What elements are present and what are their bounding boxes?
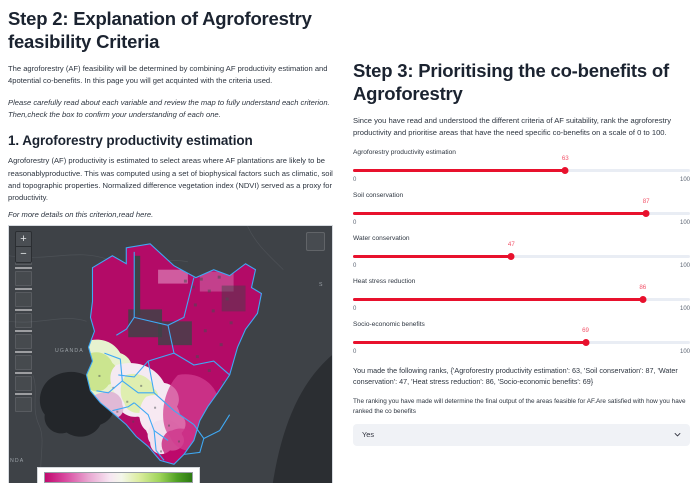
slider-fill — [353, 169, 565, 172]
slider-max-label: 100 — [680, 177, 690, 183]
slider-thumb[interactable] — [639, 296, 646, 303]
step3-intro-paragraph: Since you have read and understood the d… — [353, 115, 690, 140]
map-control-slot-4[interactable] — [15, 313, 32, 328]
chevron-down-icon — [674, 431, 681, 438]
left-column: Step 2: Explanation of Agroforestry feas… — [0, 0, 345, 483]
slider-fill — [353, 212, 646, 215]
map-control-divider-5 — [15, 351, 32, 353]
ocean-region — [269, 355, 332, 483]
slider-thumb[interactable] — [562, 167, 569, 174]
slider-heat-stress-reduction[interactable]: Heat stress reduction 86 0 100 — [353, 278, 690, 312]
slider-track[interactable]: 69 — [353, 338, 690, 347]
slider-fill — [353, 255, 511, 258]
zoom-out-button[interactable]: − — [16, 247, 31, 262]
slider-range-labels: 0 100 — [353, 263, 690, 269]
slider-soil-conservation[interactable]: Soil conservation 87 0 100 — [353, 192, 690, 226]
slider-value: 63 — [562, 155, 569, 162]
slider-track[interactable]: 47 — [353, 252, 690, 261]
slider-value: 86 — [639, 284, 646, 291]
slider-min-label: 0 — [353, 177, 356, 183]
slider-fill — [353, 298, 643, 301]
map-control-divider-7 — [15, 393, 32, 395]
map-control-divider-1 — [15, 267, 32, 269]
layers-icon[interactable] — [306, 232, 325, 251]
step2-intro-paragraph: The agroforestry (AF) feasibility will b… — [8, 63, 333, 88]
slider-min-label: 0 — [353, 306, 356, 312]
map-basemap[interactable] — [9, 226, 332, 483]
af-feasibility-raster — [68, 236, 277, 474]
slider-water-conservation[interactable]: Water conservation 47 0 100 — [353, 235, 690, 269]
slider-fill — [353, 341, 586, 344]
confirm-select-value: Yes — [362, 430, 374, 439]
map-control-slot-5[interactable] — [15, 334, 32, 349]
slider-min-label: 0 — [353, 263, 356, 269]
criterion-1-heading: 1. Agroforestry productivity estimation — [8, 133, 333, 148]
slider-max-label: 100 — [680, 220, 690, 226]
map-control-slot-3[interactable] — [15, 292, 32, 307]
criterion-1-link[interactable]: For more details on this criterion,read … — [8, 209, 333, 221]
zoom-in-button[interactable]: + — [16, 232, 31, 247]
slider-label: Water conservation — [353, 235, 690, 242]
slider-thumb[interactable] — [582, 339, 589, 346]
slider-track[interactable]: 86 — [353, 295, 690, 304]
map-side-controls[interactable] — [15, 250, 32, 414]
slider-list: Agroforestry productivity estimation 63 … — [353, 149, 690, 355]
criterion-1-paragraph: Agroforestry (AF) productivity is estima… — [8, 155, 333, 204]
slider-value: 47 — [508, 241, 515, 248]
confirm-question-text: The ranking you have made will determine… — [353, 397, 690, 418]
slider-range-labels: 0 100 — [353, 177, 690, 183]
map-control-slot-8[interactable] — [15, 397, 32, 412]
slider-agroforestry-productivity-estimation[interactable]: Agroforestry productivity estimation 63 … — [353, 149, 690, 183]
slider-max-label: 100 — [680, 263, 690, 269]
slider-track[interactable]: 87 — [353, 209, 690, 218]
legend-color-ramp — [44, 472, 193, 483]
ranks-summary-text: You made the following ranks, {'Agrofore… — [353, 365, 690, 388]
slider-thumb[interactable] — [508, 253, 515, 260]
slider-max-label: 100 — [680, 306, 690, 312]
slider-min-label: 0 — [353, 220, 356, 226]
slider-thumb[interactable] — [643, 210, 650, 217]
map-control-divider-2 — [15, 288, 32, 290]
map-control-slot-2[interactable] — [15, 271, 32, 286]
slider-min-label: 0 — [353, 349, 356, 355]
step2-title: Step 2: Explanation of Agroforestry feas… — [8, 8, 333, 53]
right-column: Step 3: Prioritising the co-benefits of … — [345, 0, 700, 483]
map-control-divider-4 — [15, 330, 32, 332]
slider-range-labels: 0 100 — [353, 349, 690, 355]
slider-range-labels: 0 100 — [353, 220, 690, 226]
map-graphics — [9, 226, 332, 483]
slider-label: Socio-economic benefits — [353, 321, 690, 328]
confirm-select[interactable]: Yes — [353, 424, 690, 446]
slider-value: 69 — [582, 327, 589, 334]
slider-track[interactable]: 63 — [353, 166, 690, 175]
slider-max-label: 100 — [680, 349, 690, 355]
slider-label: Agroforestry productivity estimation — [353, 149, 690, 156]
step3-title: Step 3: Prioritising the co-benefits of … — [353, 60, 690, 105]
map-control-slot-7[interactable] — [15, 376, 32, 391]
feasibility-map[interactable]: + − — [8, 225, 333, 483]
map-control-divider-3 — [15, 309, 32, 311]
slider-range-labels: 0 100 — [353, 306, 690, 312]
map-zoom-control[interactable]: + − — [15, 231, 32, 263]
app-page: Step 2: Explanation of Agroforestry feas… — [0, 0, 700, 483]
slider-socio-economic-benefits[interactable]: Socio-economic benefits 69 0 100 — [353, 321, 690, 355]
slider-value: 87 — [643, 198, 650, 205]
step2-instruction-paragraph: Please carefully read about each variabl… — [8, 97, 333, 122]
map-legend: 0 20 40 60 80 100 AFfeasibility(%) — [37, 467, 200, 483]
map-control-divider-6 — [15, 372, 32, 374]
slider-label: Soil conservation — [353, 192, 690, 199]
map-control-slot-6[interactable] — [15, 355, 32, 370]
